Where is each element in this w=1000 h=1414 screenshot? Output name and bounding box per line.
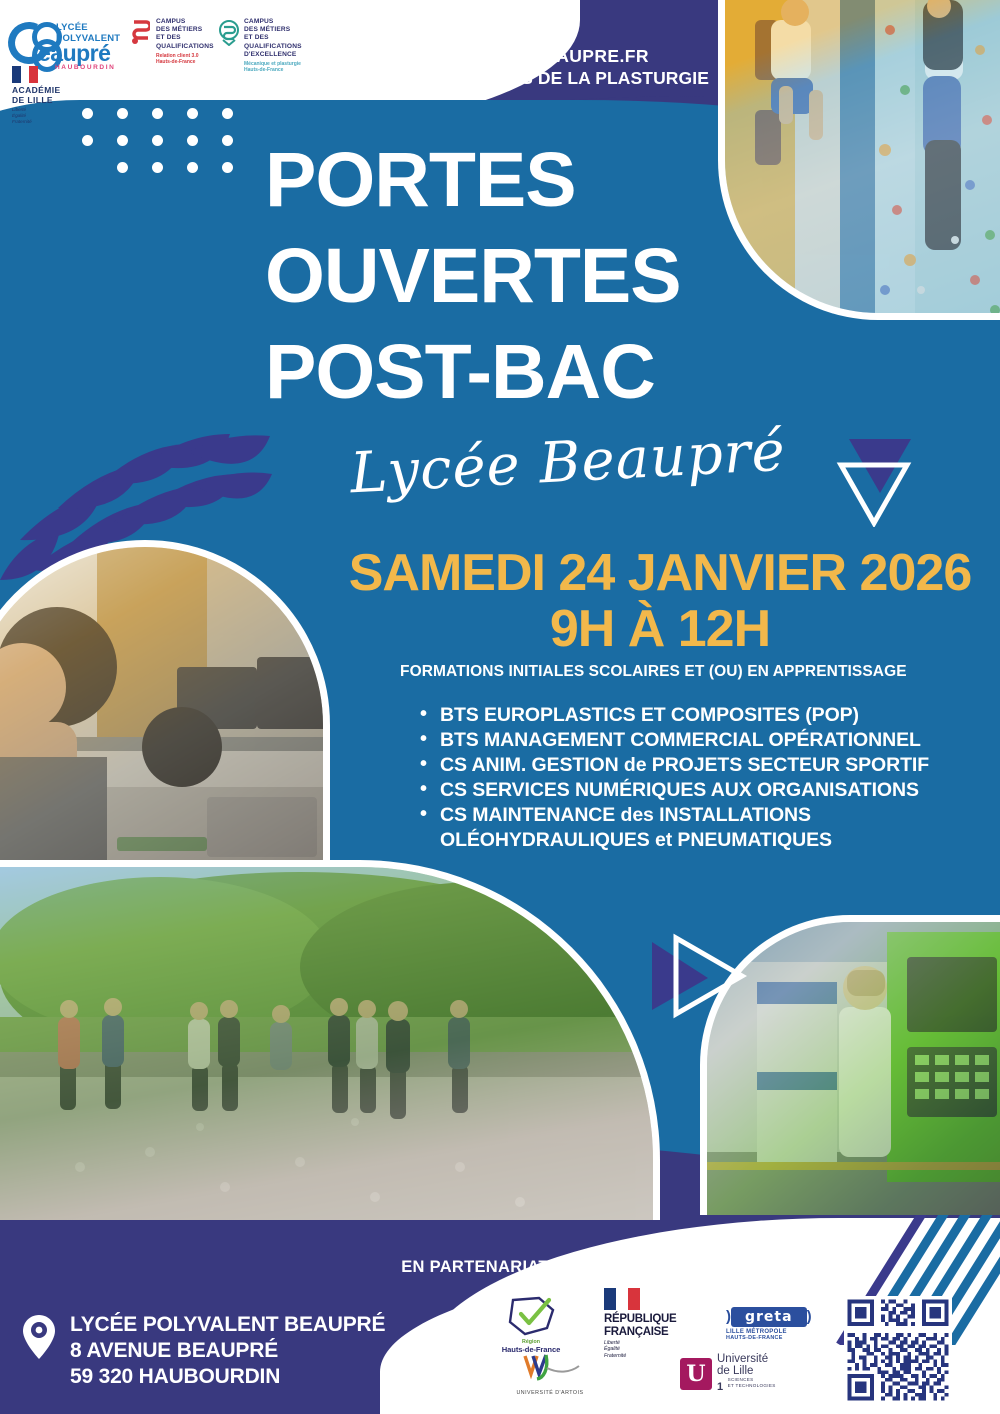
logo-region-hauts-de-france: Région Hauts-de-France xyxy=(488,1294,574,1354)
lille-line2: de Lille xyxy=(717,1365,776,1377)
french-flag-icon xyxy=(12,66,38,83)
triangle-down-decoration xyxy=(835,437,925,532)
list-item: BTS MANAGEMENT COMMERCIAL OPÉRATIONNEL xyxy=(418,728,1000,753)
partners-row-2: UNIVERSITÉ D'ARTOIS U Université de Lill… xyxy=(490,1352,776,1396)
academie-line1: ACADÉMIE xyxy=(12,85,82,95)
french-flag-icon-2 xyxy=(604,1288,640,1310)
lille-subline: 1 SCIENCES ET TECHNOLOGIES xyxy=(717,1377,776,1395)
rf-line1: RÉPUBLIQUE xyxy=(604,1313,696,1326)
cmq2-s2: Hauts-de-France xyxy=(244,67,310,73)
beaupre-line1: LYCÉE xyxy=(56,23,120,34)
logo-academie-de-lille: ACADÉMIE DE LILLE Liberté Égalité Frater… xyxy=(12,66,82,125)
address-line-1: LYCÉE POLYVALENT BEAUPRÉ xyxy=(70,1312,385,1338)
photo-climbing-wall xyxy=(718,0,1000,320)
cmq2-text: CAMPUS DES MÉTIERS ET DES QUALIFICATIONS… xyxy=(244,18,310,59)
academie-title: ACADÉMIE DE LILLE xyxy=(12,85,82,105)
cmq2-l3: ET DES xyxy=(244,34,310,42)
address-lines: LYCÉE POLYVALENT BEAUPRÉ 8 AVENUE BEAUPR… xyxy=(70,1312,385,1390)
formations-intro: FORMATIONS INITIALES SCOLAIRES ET (OU) E… xyxy=(400,663,907,681)
lille-text: Université de Lille 1 SCIENCES ET TECHNO… xyxy=(717,1353,776,1395)
logo-universite-lille: U Université de Lille 1 SCIENCES ET TECH… xyxy=(680,1353,776,1395)
logo-lycee-beaupre: LYCÉE POLYVALENT eaupré HAUBOURDIN xyxy=(8,20,126,68)
triangle-right-decoration xyxy=(650,928,760,1033)
location-pin-icon xyxy=(22,1314,56,1360)
lille-mark-icon: U xyxy=(680,1358,712,1390)
event-date: SAMEDI 24 JANVIER 2026 xyxy=(320,545,1000,601)
greta-sub2: HAUTS-DE-FRANCE xyxy=(726,1335,836,1341)
cmq2-sub: Mécanique et plasturgie Hauts-de-France xyxy=(244,61,310,74)
address-line-3: 59 320 HAUBOURDIN xyxy=(70,1364,385,1390)
cmq2-l2: DES MÉTIERS xyxy=(244,26,310,34)
photo-classroom-computers xyxy=(0,540,330,870)
address-block: LYCÉE POLYVALENT BEAUPRÉ 8 AVENUE BEAUPR… xyxy=(22,1312,385,1390)
logo-cmq-relation-client: CAMPUS DES MÉTIERS ET DES QUALIFICATIONS… xyxy=(130,18,222,65)
artois-mark-icon xyxy=(490,1352,610,1387)
logo-cmq-excellence: CAMPUS DES MÉTIERS ET DES QUALIFICATIONS… xyxy=(218,18,310,74)
lille-number: 1 xyxy=(717,1381,723,1393)
cmq-teal-mark-icon xyxy=(218,20,238,46)
website-url[interactable]: WWW.LYCEE-BEAUPRE.FR xyxy=(330,45,730,67)
list-item: CS MAINTENANCE des INSTALLATIONS OLÉOHYD… xyxy=(418,803,1000,853)
header-contact-block: WWW.LYCEE-BEAUPRE.FR LYCÉE DES MÉTIERS D… xyxy=(330,45,730,89)
lille-sub1: SCIENCES xyxy=(728,1377,754,1382)
lille-line1: Université xyxy=(717,1353,776,1365)
cmq1-l2: DES MÉTIERS xyxy=(156,26,222,34)
partners-heading: EN PARTENARIAT AVEC xyxy=(0,1258,1000,1277)
greta-right-paren: ) xyxy=(807,1308,812,1325)
cmq2-l4: QUALIFICATIONS xyxy=(244,43,310,51)
artois-caption: UNIVERSITÉ D'ARTOIS xyxy=(490,1390,610,1396)
cmq2-l1: CAMPUS xyxy=(244,18,310,26)
cmq2-l5: D'EXCELLENCE xyxy=(244,51,310,59)
cmq1-l4: QUALIFICATIONS xyxy=(156,43,222,51)
event-time: 9H À 12H xyxy=(320,601,1000,657)
cmq1-s2: Hauts-de-France xyxy=(156,59,222,65)
title-line-1: PORTES xyxy=(265,132,681,228)
cmq1-sub: Relation client 3.0 Hauts-de-France xyxy=(156,53,222,66)
formations-list: BTS EUROPLASTICS ET COMPOSITES (POP) BTS… xyxy=(418,703,1000,853)
list-item: CS SERVICES NUMÉRIQUES AUX ORGANISATIONS xyxy=(418,778,1000,803)
cmq1-text: CAMPUS DES MÉTIERS ET DES QUALIFICATIONS xyxy=(156,18,222,51)
address-line-2: 8 AVENUE BEAUPRÉ xyxy=(70,1338,385,1364)
hdf-hexagon-icon xyxy=(505,1294,557,1338)
academie-line2: DE LILLE xyxy=(12,95,82,105)
beaupre-name: eaupré xyxy=(38,42,110,65)
qr-code[interactable] xyxy=(822,1296,974,1404)
academie-motto: Liberté Égalité Fraternité xyxy=(12,107,82,125)
main-title: PORTES OUVERTES POST-BAC xyxy=(265,132,681,420)
lille-sub2: ET TECHNOLOGIES xyxy=(728,1383,776,1388)
list-item: BTS EUROPLASTICS ET COMPOSITES (POP) xyxy=(418,703,1000,728)
cmq-red-mark-icon xyxy=(130,20,150,46)
rf-line2: FRANÇAISE xyxy=(604,1326,696,1339)
list-item: CS ANIM. GESTION de PROJETS SECTEUR SPOR… xyxy=(418,753,1000,778)
title-line-2: OUVERTES xyxy=(265,228,681,324)
greta-wordmark: )greta) xyxy=(726,1307,836,1327)
logo-republique-francaise: RÉPUBLIQUE FRANÇAISE Liberté Égalité Fra… xyxy=(604,1288,696,1359)
lille-sub-wrap: SCIENCES ET TECHNOLOGIES xyxy=(728,1377,776,1388)
greta-name: greta xyxy=(731,1307,807,1327)
poster-root: LYCÉE POLYVALENT eaupré HAUBOURDIN ACADÉ… xyxy=(0,0,1000,1414)
school-tagline: LYCÉE DES MÉTIERS DE LA PLASTURGIE xyxy=(330,67,730,89)
photo-campus-students xyxy=(0,860,660,1220)
cmq1-l1: CAMPUS xyxy=(156,18,222,26)
academie-motto3: Fraternité xyxy=(12,119,82,125)
logo-universite-artois: UNIVERSITÉ D'ARTOIS xyxy=(490,1352,610,1396)
partners-row-1: Région Hauts-de-France RÉPUBLIQUE FRANÇA… xyxy=(488,1288,836,1359)
event-date-block: SAMEDI 24 JANVIER 2026 9H À 12H xyxy=(320,545,1000,657)
logo-greta: )greta) LILLE MÉTROPOLE HAUTS-DE-FRANCE xyxy=(726,1307,836,1341)
cmq1-l3: ET DES xyxy=(156,34,222,42)
top-logo-group: LYCÉE POLYVALENT eaupré HAUBOURDIN ACADÉ… xyxy=(0,4,330,124)
title-line-3: POST-BAC xyxy=(265,324,681,420)
